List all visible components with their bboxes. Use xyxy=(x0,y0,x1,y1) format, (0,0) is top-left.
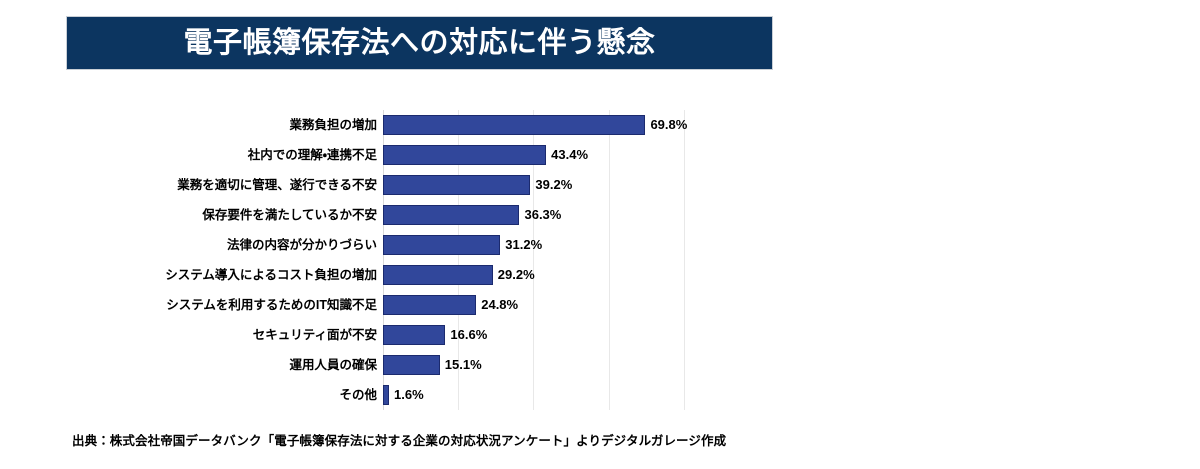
bar xyxy=(383,205,519,225)
bar xyxy=(383,385,389,405)
category-label: 保存要件を満たしているか不安 xyxy=(202,200,377,230)
bar-wrapper: 39.2% xyxy=(383,175,530,195)
value-label: 69.8% xyxy=(650,115,687,135)
bar xyxy=(383,115,645,135)
bar xyxy=(383,175,530,195)
category-label: システムを利用するためのIT知識不足 xyxy=(166,290,377,320)
bar-chart: 業務負担の増加69.8%社内での理解・連携不足43.4%業務を適切に管理、遂行で… xyxy=(0,0,1200,469)
bar-row: 保存要件を満たしているか不安36.3% xyxy=(0,200,1200,230)
value-label: 43.4% xyxy=(551,145,588,165)
category-label: 社内での理解・連携不足 xyxy=(248,140,377,170)
bar-row: システム導入によるコスト負担の増加29.2% xyxy=(0,260,1200,290)
category-label: 運用人員の確保 xyxy=(289,350,377,380)
category-label: 法律の内容が分かりづらい xyxy=(227,230,377,260)
bar-wrapper: 29.2% xyxy=(383,265,493,285)
value-label: 29.2% xyxy=(498,265,535,285)
bar-wrapper: 31.2% xyxy=(383,235,500,255)
bar-row: その他1.6% xyxy=(0,380,1200,410)
value-label: 15.1% xyxy=(445,355,482,375)
category-label: その他 xyxy=(339,380,377,410)
value-label: 31.2% xyxy=(505,235,542,255)
value-label: 36.3% xyxy=(524,205,561,225)
category-label: システム導入によるコスト負担の増加 xyxy=(165,260,377,290)
source-note: 出典：株式会社帝国データバンク「電子帳簿保存法に対する企業の対応状況アンケート」… xyxy=(72,430,726,449)
bar-wrapper: 15.1% xyxy=(383,355,440,375)
bar xyxy=(383,325,445,345)
bar xyxy=(383,265,493,285)
bar-row: システムを利用するためのIT知識不足24.8% xyxy=(0,290,1200,320)
value-label: 24.8% xyxy=(481,295,518,315)
bar xyxy=(383,355,440,375)
bar-wrapper: 1.6% xyxy=(383,385,389,405)
bar-wrapper: 69.8% xyxy=(383,115,645,135)
bar-wrapper: 24.8% xyxy=(383,295,476,315)
bar xyxy=(383,235,500,255)
bar-wrapper: 16.6% xyxy=(383,325,445,345)
value-label: 16.6% xyxy=(450,325,487,345)
bar-row: 法律の内容が分かりづらい31.2% xyxy=(0,230,1200,260)
bar-row: 業務を適切に管理、遂行できる不安39.2% xyxy=(0,170,1200,200)
slide-canvas: 電子帳簿保存法への対応に伴う懸念 業務負担の増加69.8%社内での理解・連携不足… xyxy=(0,0,1200,469)
bar-row: 業務負担の増加69.8% xyxy=(0,110,1200,140)
bar xyxy=(383,145,546,165)
category-label: 業務を適切に管理、遂行できる不安 xyxy=(177,170,377,200)
bar-row: セキュリティ面が不安16.6% xyxy=(0,320,1200,350)
value-label: 39.2% xyxy=(535,175,572,195)
bar-row: 運用人員の確保15.1% xyxy=(0,350,1200,380)
bar xyxy=(383,295,476,315)
category-label: セキュリティ面が不安 xyxy=(253,320,377,350)
bar-row: 社内での理解・連携不足43.4% xyxy=(0,140,1200,170)
bar-wrapper: 36.3% xyxy=(383,205,519,225)
value-label: 1.6% xyxy=(394,385,424,405)
category-label: 業務負担の増加 xyxy=(289,110,377,140)
bar-wrapper: 43.4% xyxy=(383,145,546,165)
